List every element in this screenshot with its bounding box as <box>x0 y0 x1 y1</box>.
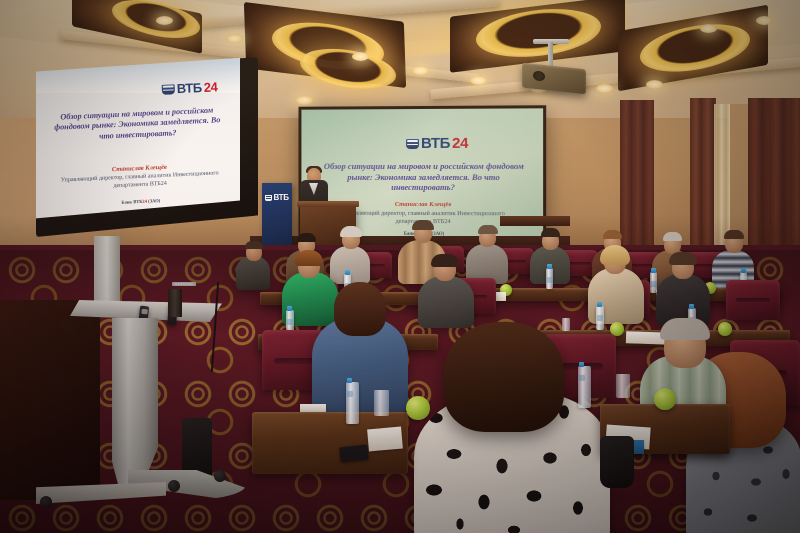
attendee-hair <box>444 322 564 432</box>
logo-vtb-text: ВТБ <box>176 80 202 96</box>
green-apple <box>718 322 732 336</box>
attendee-hair <box>340 226 362 237</box>
recessed-spotlight-icon <box>412 66 429 75</box>
foreground-dark-surface <box>0 300 100 500</box>
attendee-hair <box>600 245 630 265</box>
slide-title: Обзор ситуации на мировом и российском ф… <box>51 105 224 144</box>
vtb-logo-icon <box>265 195 272 201</box>
attendee-hair <box>541 228 560 237</box>
list-item <box>418 276 474 328</box>
attendee-hair <box>660 318 710 340</box>
vtb-roll-up-banner: ВТБ <box>262 183 292 245</box>
drinking-glass <box>374 390 389 416</box>
green-apple <box>406 396 430 420</box>
recessed-spotlight-icon <box>296 96 313 105</box>
slide-content: ВТБ24 Обзор ситуации на мировом и россий… <box>32 52 243 224</box>
logo-vtb-text: ВТБ <box>421 135 450 152</box>
smartphone <box>339 445 368 463</box>
slide-logo: ВТБ24 <box>406 135 468 152</box>
tv-screen: ВТБ24 Обзор ситуации на мировом и россий… <box>36 57 240 220</box>
water-bottle <box>546 268 553 289</box>
drinking-glass <box>562 318 570 331</box>
recessed-spotlight-icon <box>156 16 173 25</box>
slide-logo: ВТБ24 <box>161 79 217 97</box>
water-bottle <box>578 366 591 408</box>
stand-caster-wheel <box>40 496 52 508</box>
tv-stand-neck <box>168 289 182 317</box>
drinking-glass <box>616 374 630 398</box>
flat-panel-tv: ВТБ24 Обзор ситуации на мировом и россий… <box>36 57 258 237</box>
lectern-top <box>297 201 359 207</box>
water-bottle <box>346 382 359 424</box>
attendee-hair <box>245 241 263 249</box>
conference-hall-photo: ВТБ24 Обзор ситуации на мировом и россий… <box>0 0 800 533</box>
vtb-logo-icon <box>162 84 175 95</box>
logo-24-text: 24 <box>452 135 468 152</box>
banner-logo-text: ВТБ <box>274 193 289 202</box>
stand-caster-wheel <box>168 480 180 492</box>
tv-brand-logo: SAMSUNG <box>172 282 196 286</box>
attendee-hair <box>478 225 498 234</box>
stand-caster-wheel <box>214 470 226 482</box>
green-apple <box>654 388 676 410</box>
vtb-logo-icon <box>406 139 419 149</box>
attendee-hair <box>297 233 316 242</box>
slide-speaker-name: Станислав Клещёв <box>341 201 507 208</box>
attendee-hair <box>669 252 697 265</box>
tv-stand-riser <box>94 236 120 306</box>
attendee-hair <box>334 282 386 336</box>
recessed-spotlight-icon <box>226 34 243 43</box>
footer-brand: ВТБ <box>133 199 142 204</box>
recessed-spotlight-icon <box>596 84 613 93</box>
footer-suffix: (ЗАО) <box>147 198 161 204</box>
slide-title: Обзор ситуации на мировом и российском ф… <box>321 161 527 194</box>
attendee-hair <box>663 232 682 241</box>
projector-mount-pole <box>548 42 553 68</box>
list-item <box>236 256 270 290</box>
footer-prefix: Банк <box>121 199 133 205</box>
recessed-spotlight-icon <box>470 76 487 85</box>
recessed-spotlight-icon <box>756 16 773 25</box>
banner-logo: ВТБ <box>265 193 289 202</box>
notepad-paper <box>367 427 403 452</box>
slide-footer: Банк ВТБ24 (ЗАО) <box>79 196 203 207</box>
logo-24-text: 24 <box>203 79 217 95</box>
water-bottle <box>596 306 604 330</box>
chair <box>726 280 780 320</box>
attendee-hair <box>412 220 434 230</box>
recessed-spotlight-icon <box>352 52 369 61</box>
recessed-spotlight-icon <box>646 80 663 89</box>
attendee-hair <box>295 250 323 266</box>
attendee-hair <box>724 230 744 239</box>
attendee-hair <box>431 254 459 267</box>
stage-side-table <box>500 216 570 226</box>
recessed-spotlight-icon <box>700 24 717 33</box>
attendee-hair <box>603 230 622 239</box>
handbag <box>600 436 634 488</box>
